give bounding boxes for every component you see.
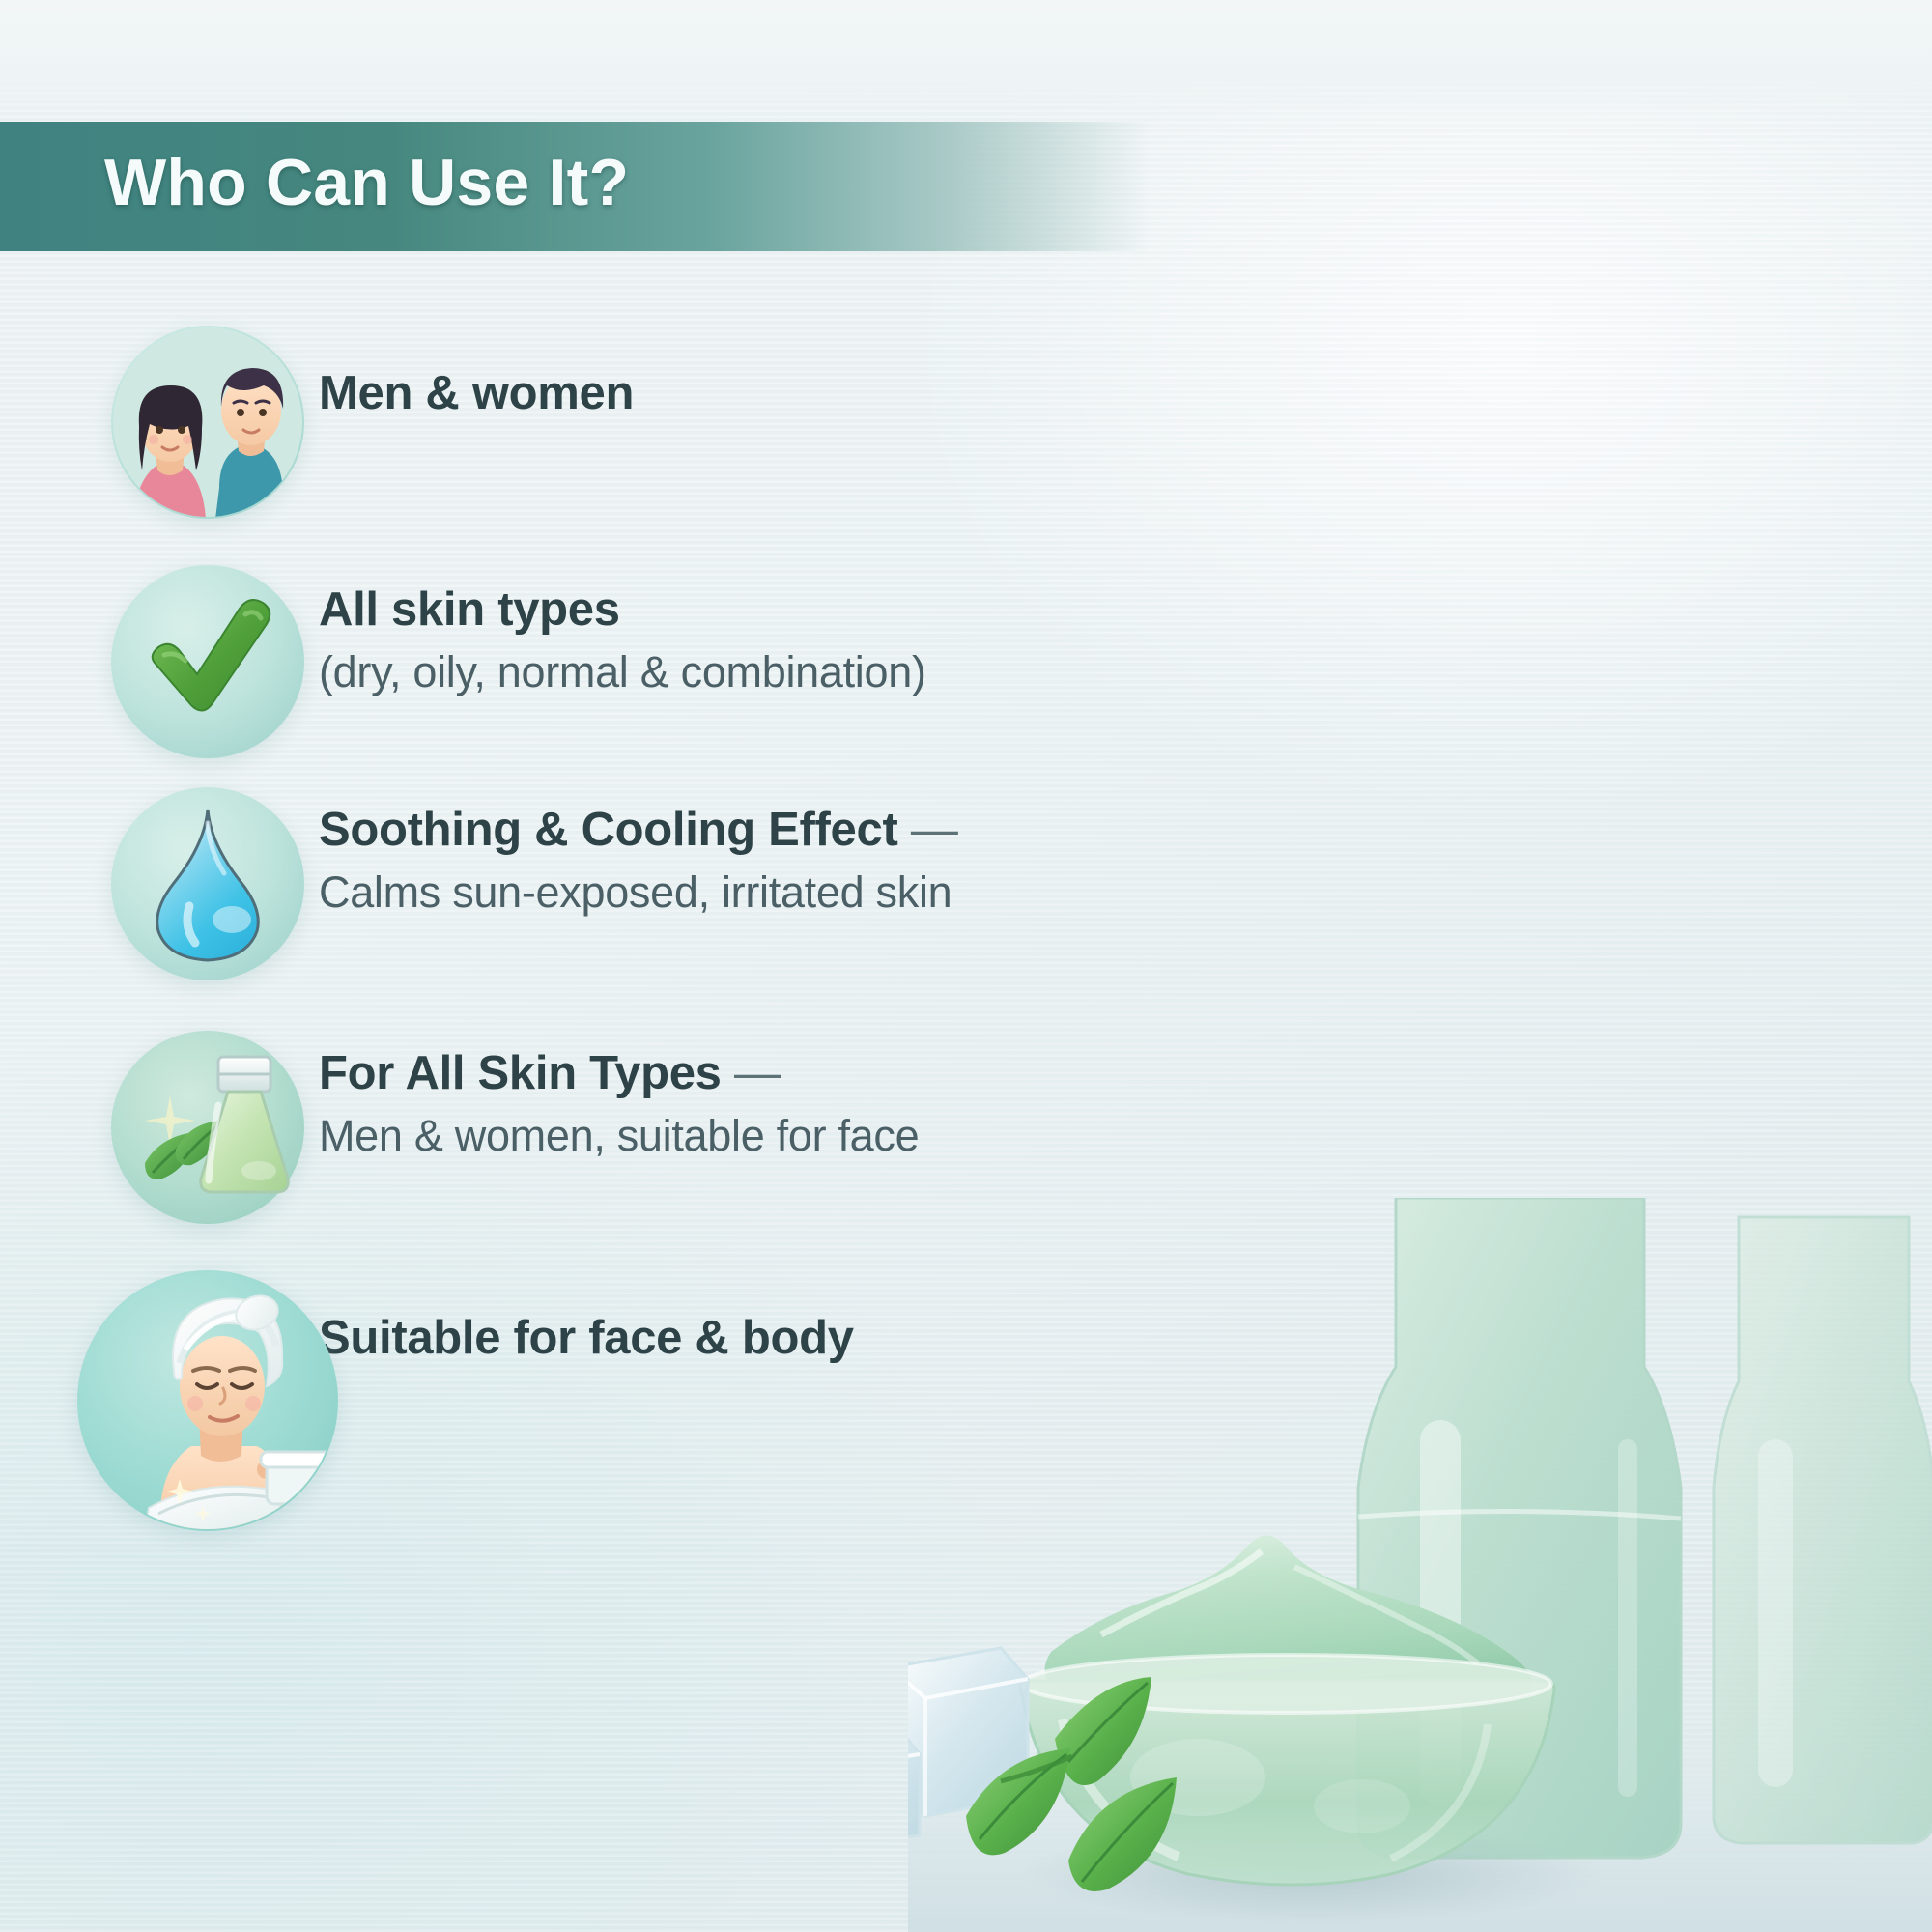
gel-bowl <box>1020 1535 1554 1885</box>
item-title: For All Skin Types — <box>319 1047 919 1100</box>
spa-woman-towel-icon <box>63 1256 353 1546</box>
serum-bottle-leaf-icon <box>97 1016 319 1238</box>
product-photo <box>908 1198 1932 1932</box>
item-title-text: For All Skin Types <box>319 1047 722 1099</box>
top-highlight <box>0 0 1932 126</box>
item-title-text: Soothing & Cooling Effect <box>319 804 897 856</box>
mint-leaves <box>966 1677 1177 1891</box>
item-title: All skin types <box>319 583 926 637</box>
infographic-page: Who Can Use It? <box>0 0 1932 1932</box>
water-droplet-icon <box>97 773 319 995</box>
item-title: Soothing & Cooling Effect — <box>319 804 958 857</box>
item-title-dash: — <box>734 1047 781 1099</box>
item-subtitle: Calms sun-exposed, irritated skin <box>319 867 958 919</box>
item-subtitle: (dry, oily, normal & combination) <box>319 646 926 698</box>
couple-avatar-icon <box>97 311 319 533</box>
list-item[interactable]: All skin types (dry, oily, normal & comb… <box>97 551 926 773</box>
green-checkmark-icon <box>97 551 319 773</box>
page-title: Who Can Use It? <box>104 145 1070 220</box>
list-item[interactable]: Suitable for face & body <box>97 1256 854 1546</box>
glass-bottle-back <box>1714 1217 1932 1843</box>
list-item[interactable]: For All Skin Types — Men & women, suitab… <box>97 1016 919 1238</box>
list-item[interactable]: Men & women <box>97 311 634 533</box>
ice-cube-small <box>908 1727 920 1847</box>
list-item[interactable]: Soothing & Cooling Effect — Calms sun-ex… <box>97 773 958 995</box>
item-title-dash: — <box>911 804 958 856</box>
item-title: Men & women <box>319 367 634 420</box>
item-subtitle: Men & women, suitable for face <box>319 1110 919 1162</box>
item-title: Suitable for face & body <box>319 1312 854 1365</box>
ice-cube-large <box>908 1648 1028 1816</box>
glass-bottle-tall <box>1358 1198 1681 1858</box>
